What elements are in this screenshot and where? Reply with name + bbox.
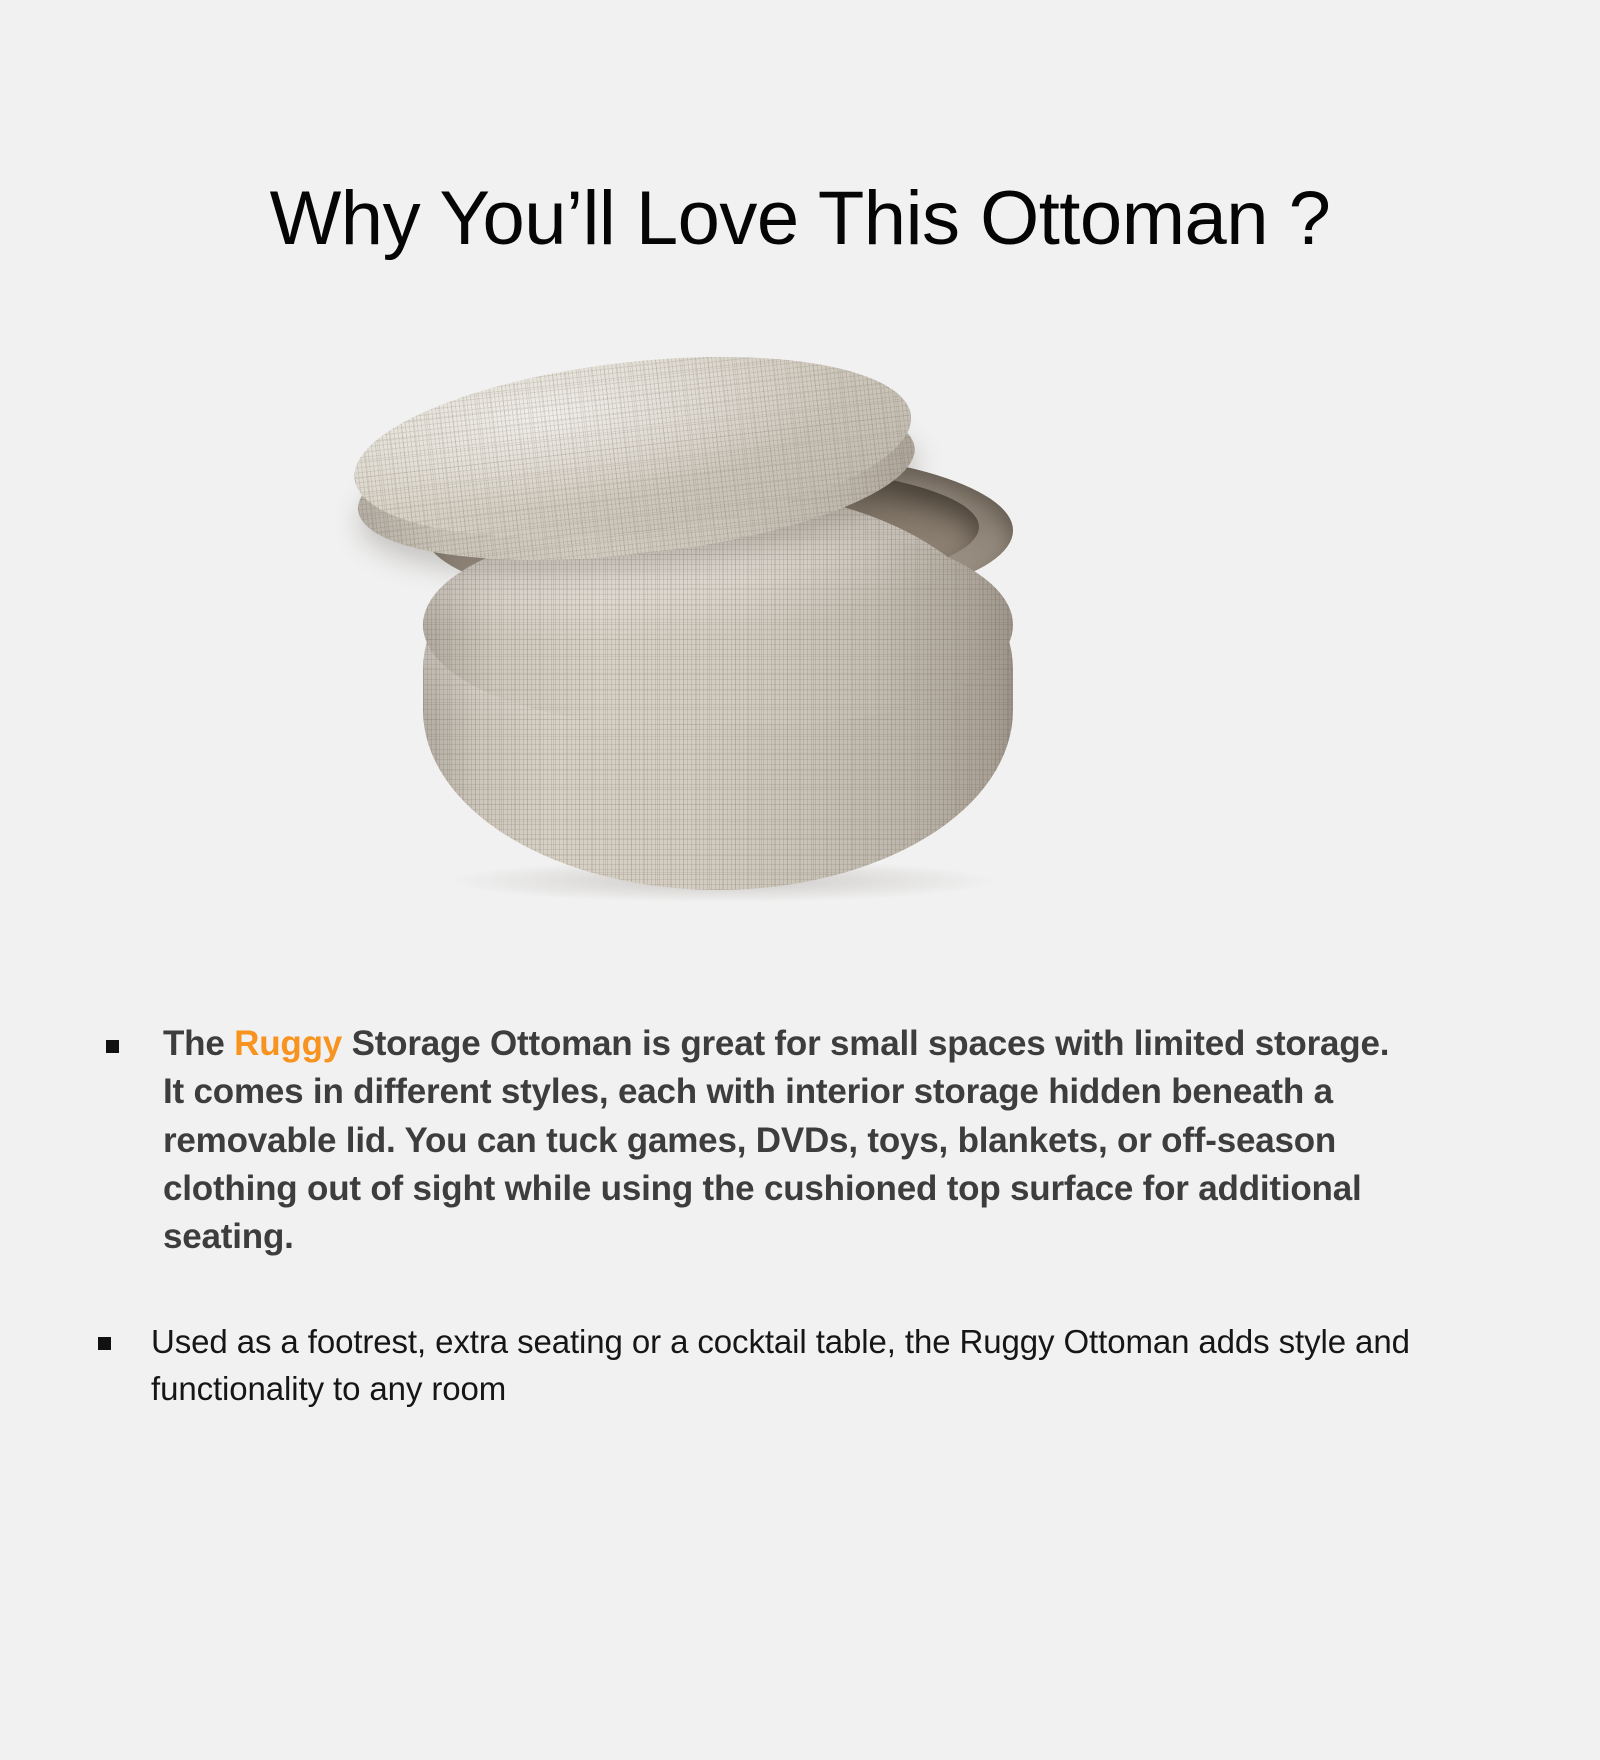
product-image-stage [335,340,1035,900]
product-feature-page: Why You’ll Love This Ottoman ? [0,0,1600,1760]
square-bullet-icon [106,1040,119,1053]
feature-description-secondary: Used as a footrest, extra seating or a c… [151,1319,1521,1413]
feature-description-primary: The Ruggy Storage Ottoman is great for s… [163,1020,1403,1261]
brand-name-accent: Ruggy [234,1024,342,1063]
page-title: Why You’ll Love This Ottoman ? [0,178,1600,260]
list-item: Used as a footrest, extra seating or a c… [0,1319,1600,1413]
feature-list: The Ruggy Storage Ottoman is great for s… [0,1020,1600,1413]
product-image [0,340,1600,900]
square-bullet-icon [98,1337,111,1350]
list-item: The Ruggy Storage Ottoman is great for s… [0,1020,1600,1261]
